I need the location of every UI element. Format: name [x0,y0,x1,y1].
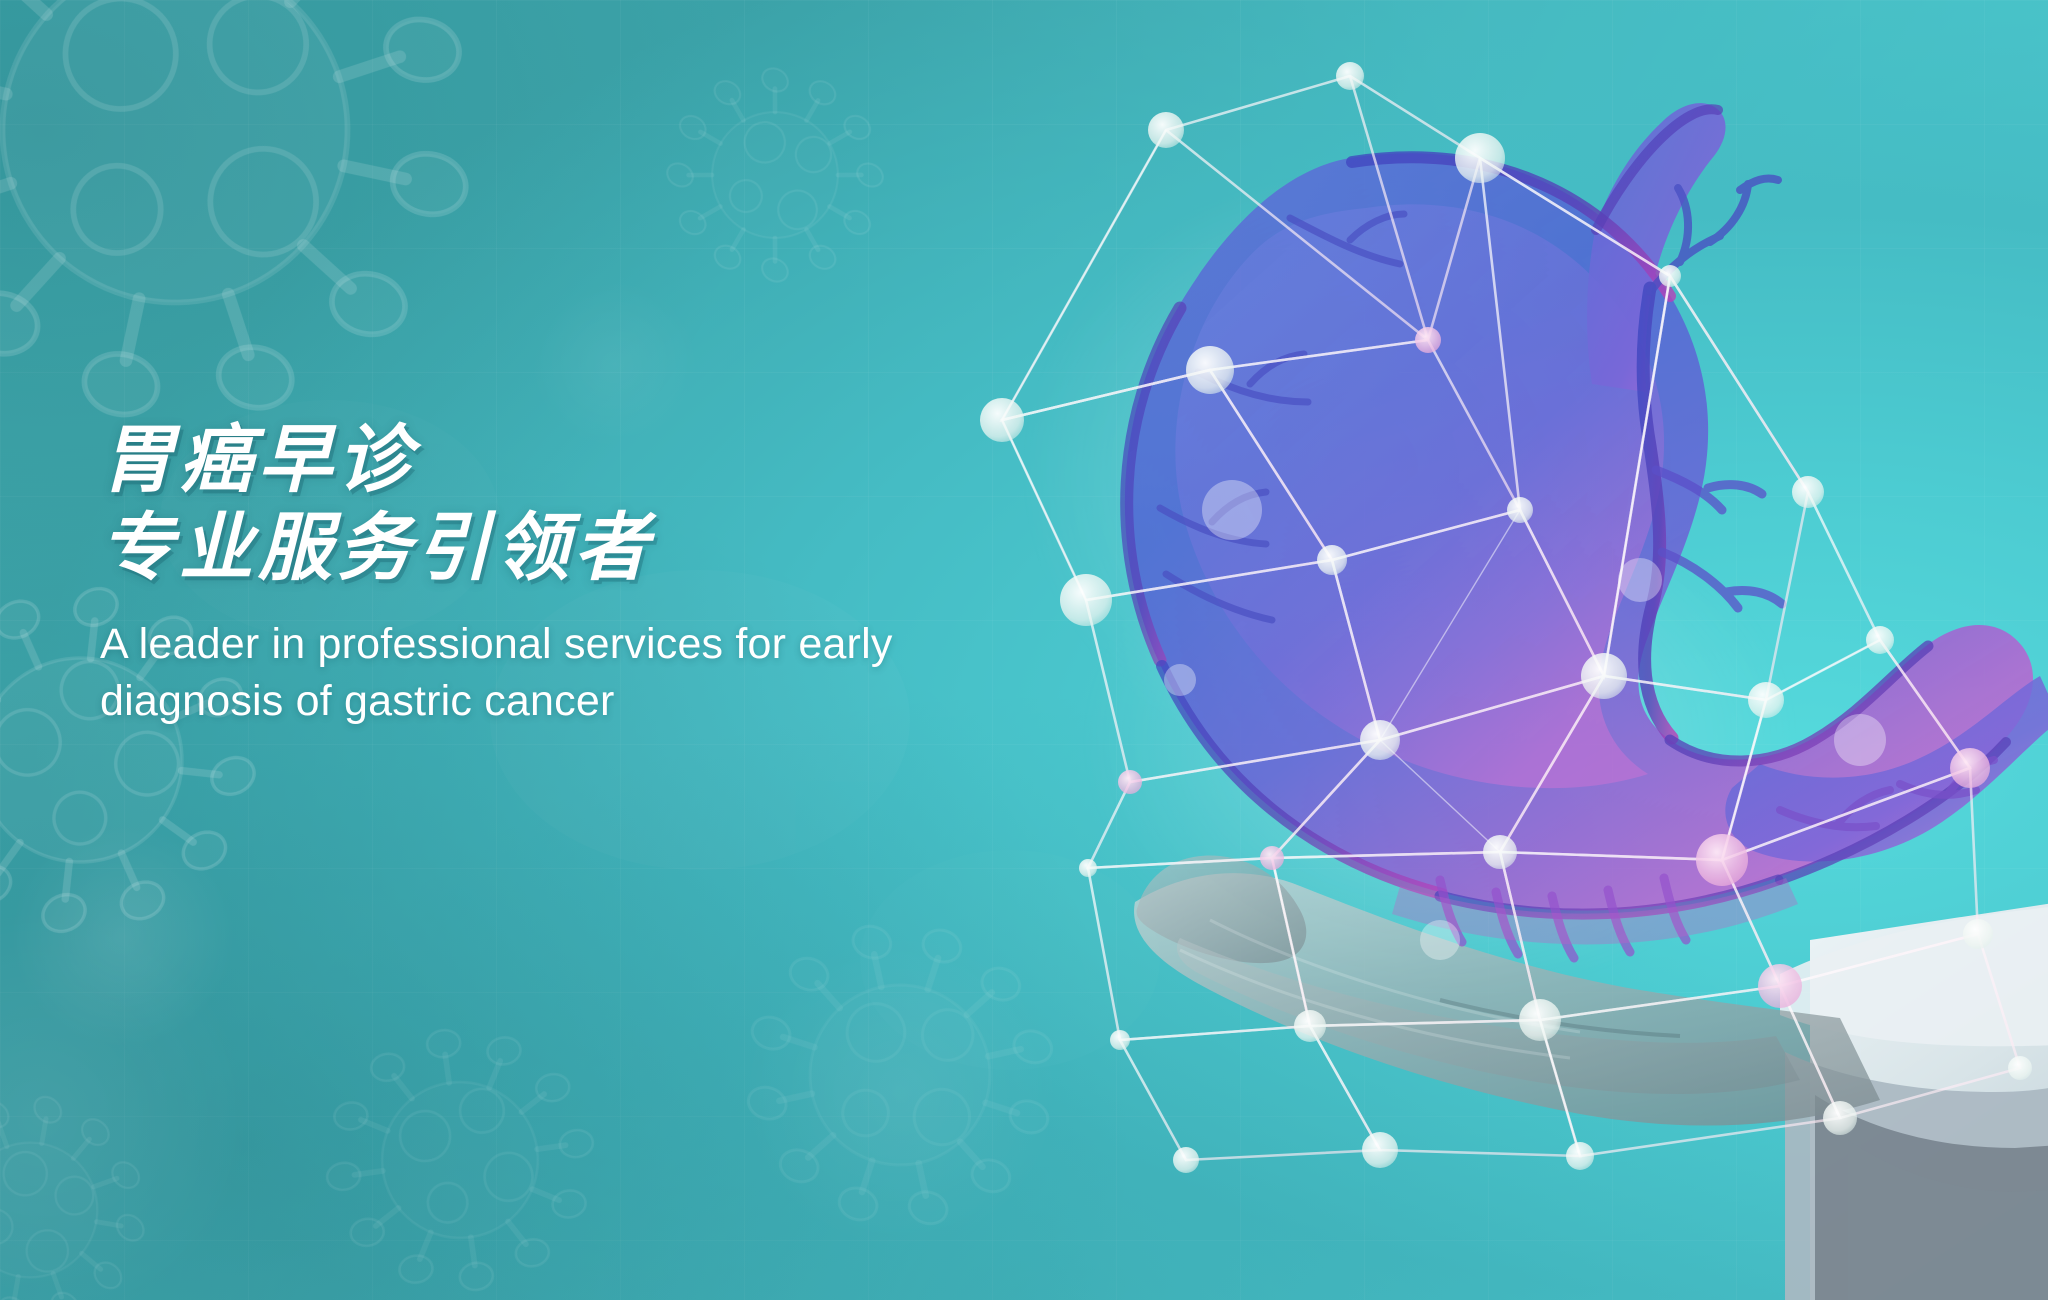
headline-line-1: 胃癌早诊 [100,418,980,502]
banner-root: 胃癌早诊 专业服务引领者 A leader in professional se… [0,0,2048,1300]
copy-block: 胃癌早诊 专业服务引领者 A leader in professional se… [100,418,980,730]
headline-line-2: 专业服务引领者 [100,506,980,590]
subheadline: A leader in professional services for ea… [100,616,900,730]
